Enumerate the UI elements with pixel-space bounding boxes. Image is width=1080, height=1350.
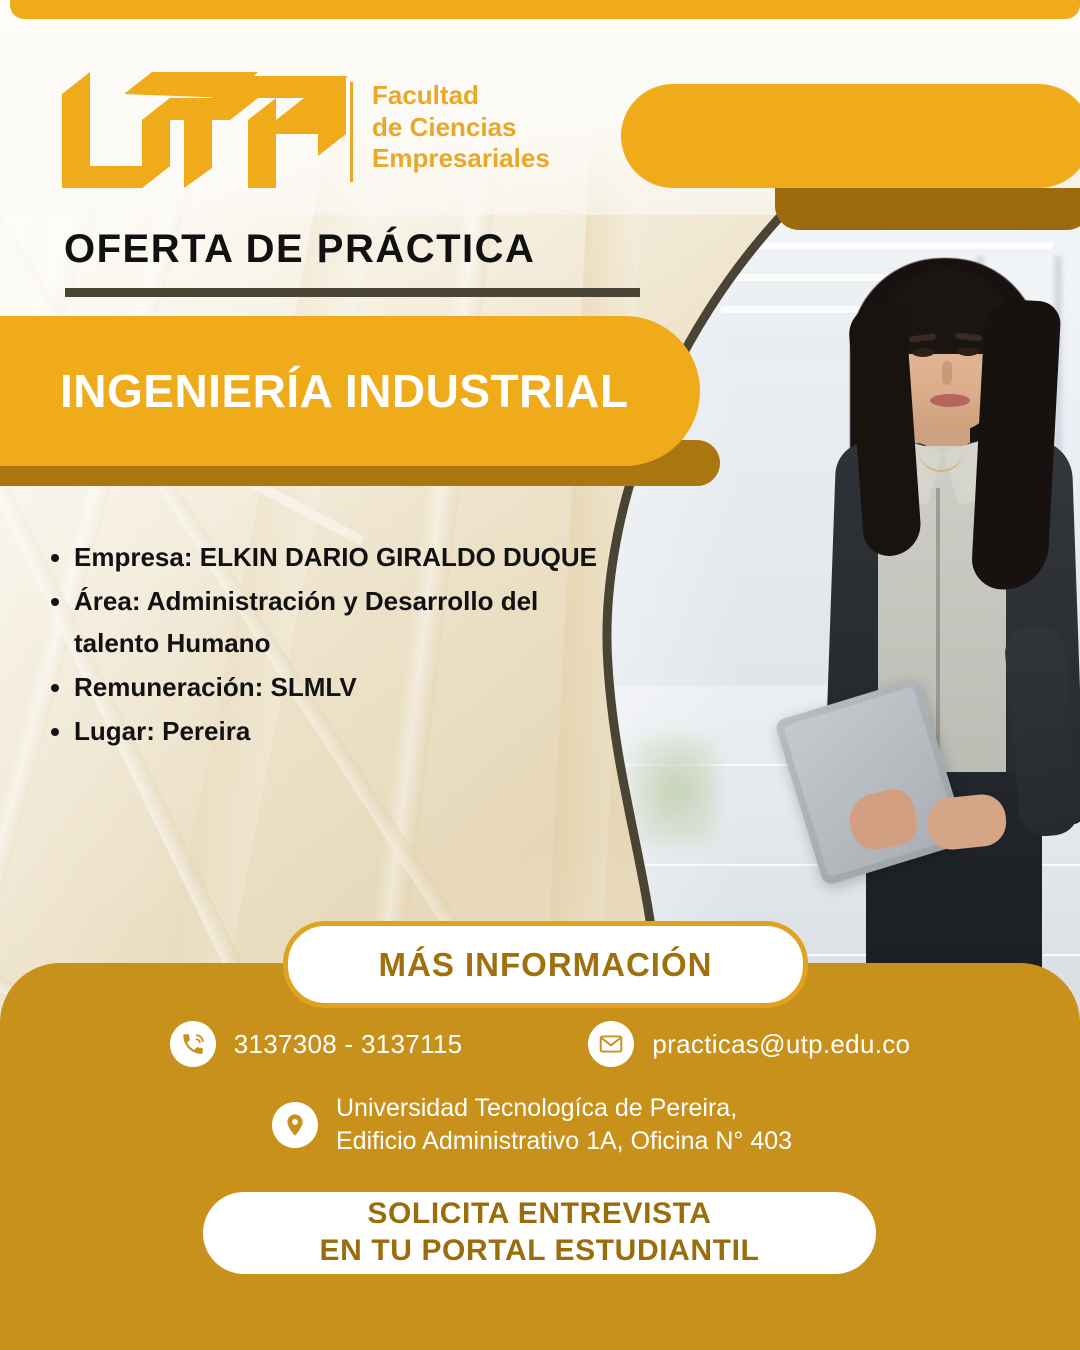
- top-right-yellow-pill: [621, 84, 1080, 188]
- faculty-line-3: Empresariales: [372, 143, 550, 175]
- address-text: Universidad Tecnologíca de Pereira, Edif…: [336, 1092, 792, 1158]
- phone-contact[interactable]: 3137308 - 3137115: [170, 1021, 463, 1067]
- more-info-badge: MÁS INFORMACIÓN: [283, 921, 808, 1008]
- email-contact[interactable]: practicas@utp.edu.co: [588, 1021, 910, 1067]
- address-line-1: Universidad Tecnologíca de Pereira,: [336, 1092, 792, 1125]
- cta-line-1: SOLICITA ENTREVISTA: [320, 1196, 760, 1233]
- faculty-name: Facultad de Ciencias Empresariales: [372, 80, 550, 175]
- address-block: Universidad Tecnologíca de Pereira, Edif…: [272, 1092, 792, 1158]
- program-title: INGENIERÍA INDUSTRIAL: [0, 364, 628, 418]
- contact-row: 3137308 - 3137115 practicas@utp.edu.co: [0, 1021, 1080, 1067]
- top-right-brown-bar: [775, 188, 1080, 230]
- email-address: practicas@utp.edu.co: [652, 1029, 910, 1060]
- phone-call-icon: [170, 1021, 216, 1067]
- envelope-icon: [588, 1021, 634, 1067]
- faculty-line-1: Facultad: [372, 80, 550, 112]
- more-info-label: MÁS INFORMACIÓN: [379, 946, 713, 984]
- phone-number: 3137308 - 3137115: [234, 1029, 463, 1060]
- cta-text: SOLICITA ENTREVISTA EN TU PORTAL ESTUDIA…: [320, 1196, 760, 1269]
- top-accent-bar: [10, 0, 1080, 19]
- page-title: OFERTA DE PRÁCTICA: [64, 227, 535, 272]
- cta-button[interactable]: SOLICITA ENTREVISTA EN TU PORTAL ESTUDIA…: [203, 1192, 876, 1274]
- utp-logo-icon: [62, 72, 352, 188]
- logo-divider: [350, 82, 353, 182]
- list-item: Lugar: Pereira: [74, 710, 604, 752]
- list-item: Área: Administración y Desarrollo del ta…: [74, 580, 604, 664]
- poster-root: Facultad de Ciencias Empresariales OFERT…: [0, 0, 1080, 1350]
- cta-line-2: EN TU PORTAL ESTUDIANTIL: [320, 1233, 760, 1270]
- faculty-line-2: de Ciencias: [372, 112, 550, 144]
- address-line-2: Edificio Administrativo 1A, Oficina N° 4…: [336, 1125, 792, 1158]
- list-item: Remuneración: SLMLV: [74, 666, 604, 708]
- offer-details: Empresa: ELKIN DARIO GIRALDO DUQUE Área:…: [44, 536, 604, 755]
- program-banner: INGENIERÍA INDUSTRIAL: [0, 316, 700, 466]
- map-pin-icon: [272, 1102, 318, 1148]
- list-item: Empresa: ELKIN DARIO GIRALDO DUQUE: [74, 536, 604, 578]
- title-divider: [65, 288, 640, 297]
